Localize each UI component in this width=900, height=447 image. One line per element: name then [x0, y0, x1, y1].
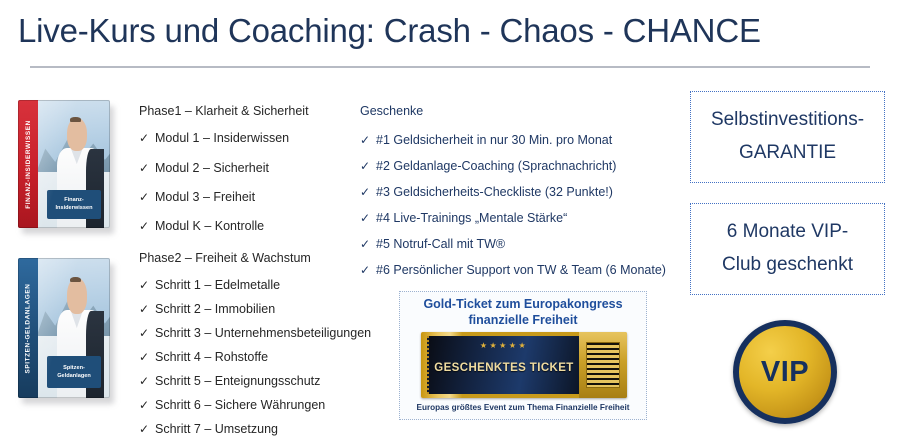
- check-icon: ✓: [139, 220, 155, 232]
- phase1-heading: Phase1 – Klarheit & Sicherheit: [139, 104, 309, 118]
- phase1-item-label: Modul K – Kontrolle: [155, 219, 264, 233]
- gifts-heading: Geschenke: [360, 104, 423, 118]
- phase2-item: ✓ Schritt 5 – Enteignungsschutz: [139, 374, 320, 388]
- phase2-item: ✓ Schritt 7 – Umsetzung: [139, 422, 278, 436]
- gift-item-label: #1 Geldsicherheit in nur 30 Min. pro Mon…: [376, 133, 612, 147]
- gift-item-label: #3 Geldsicherheits-Checkliste (32 Punkte…: [376, 185, 613, 199]
- ticket-caption: Europas größtes Event zum Thema Finanzie…: [400, 403, 646, 412]
- product-box-spitzen-geldanlagen: SPITZEN-GELDANLAGEN: [18, 258, 110, 398]
- ticket-headline: GESCHENKTES TICKET: [429, 362, 579, 374]
- phase2-item: ✓ Schritt 3 – Unternehmensbeteiligungen: [139, 326, 371, 340]
- check-icon: ✓: [360, 160, 376, 172]
- ticket-graphic: ★★★★★ GESCHENKTES TICKET: [421, 332, 627, 398]
- check-icon: ✓: [139, 351, 155, 363]
- barcode-icon: [586, 342, 620, 388]
- slide-canvas: Live-Kurs und Coaching: Crash - Chaos - …: [0, 0, 900, 447]
- phase2-item-label: Schritt 7 – Umsetzung: [155, 422, 278, 436]
- check-icon: ✓: [139, 327, 155, 339]
- callout-box-vip-club: 6 Monate VIP- Club geschenkt: [690, 203, 885, 295]
- ticket-stub: [579, 332, 627, 398]
- vip-badge: VIP: [733, 320, 837, 424]
- check-icon: ✓: [360, 264, 376, 276]
- gift-item: ✓ #2 Geldanlage-Coaching (Sprachnachrich…: [360, 159, 616, 173]
- phase2-item: ✓ Schritt 2 – Immobilien: [139, 302, 275, 316]
- callout-box-garantie: Selbstinvestitions- GARANTIE: [690, 91, 885, 183]
- title-divider: [30, 66, 870, 68]
- page-title: Live-Kurs und Coaching: Crash - Chaos - …: [18, 12, 888, 50]
- ticket-title-line2: finanzielle Freiheit: [400, 313, 646, 329]
- phase2-item: ✓ Schritt 4 – Rohstoffe: [139, 350, 268, 364]
- ticket-title: Gold-Ticket zum Europakongress finanziel…: [400, 297, 646, 328]
- gift-item: ✓ #6 Persönlicher Support von TW & Team …: [360, 263, 666, 277]
- check-icon: ✓: [360, 212, 376, 224]
- gift-item-label: #2 Geldanlage-Coaching (Sprachnachricht): [376, 159, 616, 173]
- callout-line2: GARANTIE: [739, 137, 836, 170]
- phase1-item: ✓ Modul 2 – Sicherheit: [139, 161, 269, 175]
- phase2-item-label: Schritt 4 – Rohstoffe: [155, 350, 268, 364]
- gift-item: ✓ #3 Geldsicherheits-Checkliste (32 Punk…: [360, 185, 613, 199]
- phase2-heading: Phase2 – Freiheit & Wachstum: [139, 251, 311, 265]
- check-icon: ✓: [139, 191, 155, 203]
- product-box-edge: [18, 100, 110, 228]
- phase2-item: ✓ Schritt 6 – Sichere Währungen: [139, 398, 325, 412]
- check-icon: ✓: [139, 162, 155, 174]
- phase1-item: ✓ Modul K – Kontrolle: [139, 219, 264, 233]
- vip-coin-icon: VIP: [733, 320, 837, 424]
- check-icon: ✓: [139, 279, 155, 291]
- vip-label: VIP: [761, 356, 809, 389]
- check-icon: ✓: [139, 303, 155, 315]
- gift-item: ✓ #4 Live-Trainings „Mentale Stärke“: [360, 211, 567, 225]
- gold-ticket-panel: Gold-Ticket zum Europakongress finanziel…: [399, 291, 647, 420]
- phase1-item: ✓ Modul 3 – Freiheit: [139, 190, 255, 204]
- check-icon: ✓: [139, 399, 155, 411]
- phase2-item-label: Schritt 3 – Unternehmensbeteiligungen: [155, 326, 371, 340]
- check-icon: ✓: [360, 186, 376, 198]
- gift-item-label: #5 Notruf-Call mit TW®: [376, 237, 505, 251]
- stars-icon: ★★★★★: [429, 341, 579, 350]
- check-icon: ✓: [139, 423, 155, 435]
- callout-line1: Selbstinvestitions-: [711, 104, 864, 137]
- phase1-item: ✓ Modul 1 – Insiderwissen: [139, 131, 289, 145]
- phase2-item-label: Schritt 2 – Immobilien: [155, 302, 275, 316]
- gift-item-label: #6 Persönlicher Support von TW & Team (6…: [376, 263, 666, 277]
- check-icon: ✓: [139, 132, 155, 144]
- phase2-item-label: Schritt 5 – Enteignungsschutz: [155, 374, 320, 388]
- phase2-item: ✓ Schritt 1 – Edelmetalle: [139, 278, 280, 292]
- gift-item: ✓ #1 Geldsicherheit in nur 30 Min. pro M…: [360, 133, 612, 147]
- phase1-item-label: Modul 1 – Insiderwissen: [155, 131, 289, 145]
- ticket-title-line1: Gold-Ticket zum Europakongress: [400, 297, 646, 313]
- product-box-finanz-insiderwissen: FINANZ-INSIDERWISSEN: [18, 100, 110, 228]
- phase1-item-label: Modul 2 – Sicherheit: [155, 161, 269, 175]
- phase2-item-label: Schritt 6 – Sichere Währungen: [155, 398, 325, 412]
- phase2-item-label: Schritt 1 – Edelmetalle: [155, 278, 280, 292]
- ticket-face: ★★★★★ GESCHENKTES TICKET: [427, 336, 579, 394]
- callout-line1: 6 Monate VIP-: [727, 216, 848, 249]
- callout-line2: Club geschenkt: [722, 249, 853, 282]
- gift-item-label: #4 Live-Trainings „Mentale Stärke“: [376, 211, 567, 225]
- check-icon: ✓: [360, 238, 376, 250]
- product-box-edge: [18, 258, 110, 398]
- check-icon: ✓: [360, 134, 376, 146]
- gift-item: ✓ #5 Notruf-Call mit TW®: [360, 237, 505, 251]
- phase1-item-label: Modul 3 – Freiheit: [155, 190, 255, 204]
- check-icon: ✓: [139, 375, 155, 387]
